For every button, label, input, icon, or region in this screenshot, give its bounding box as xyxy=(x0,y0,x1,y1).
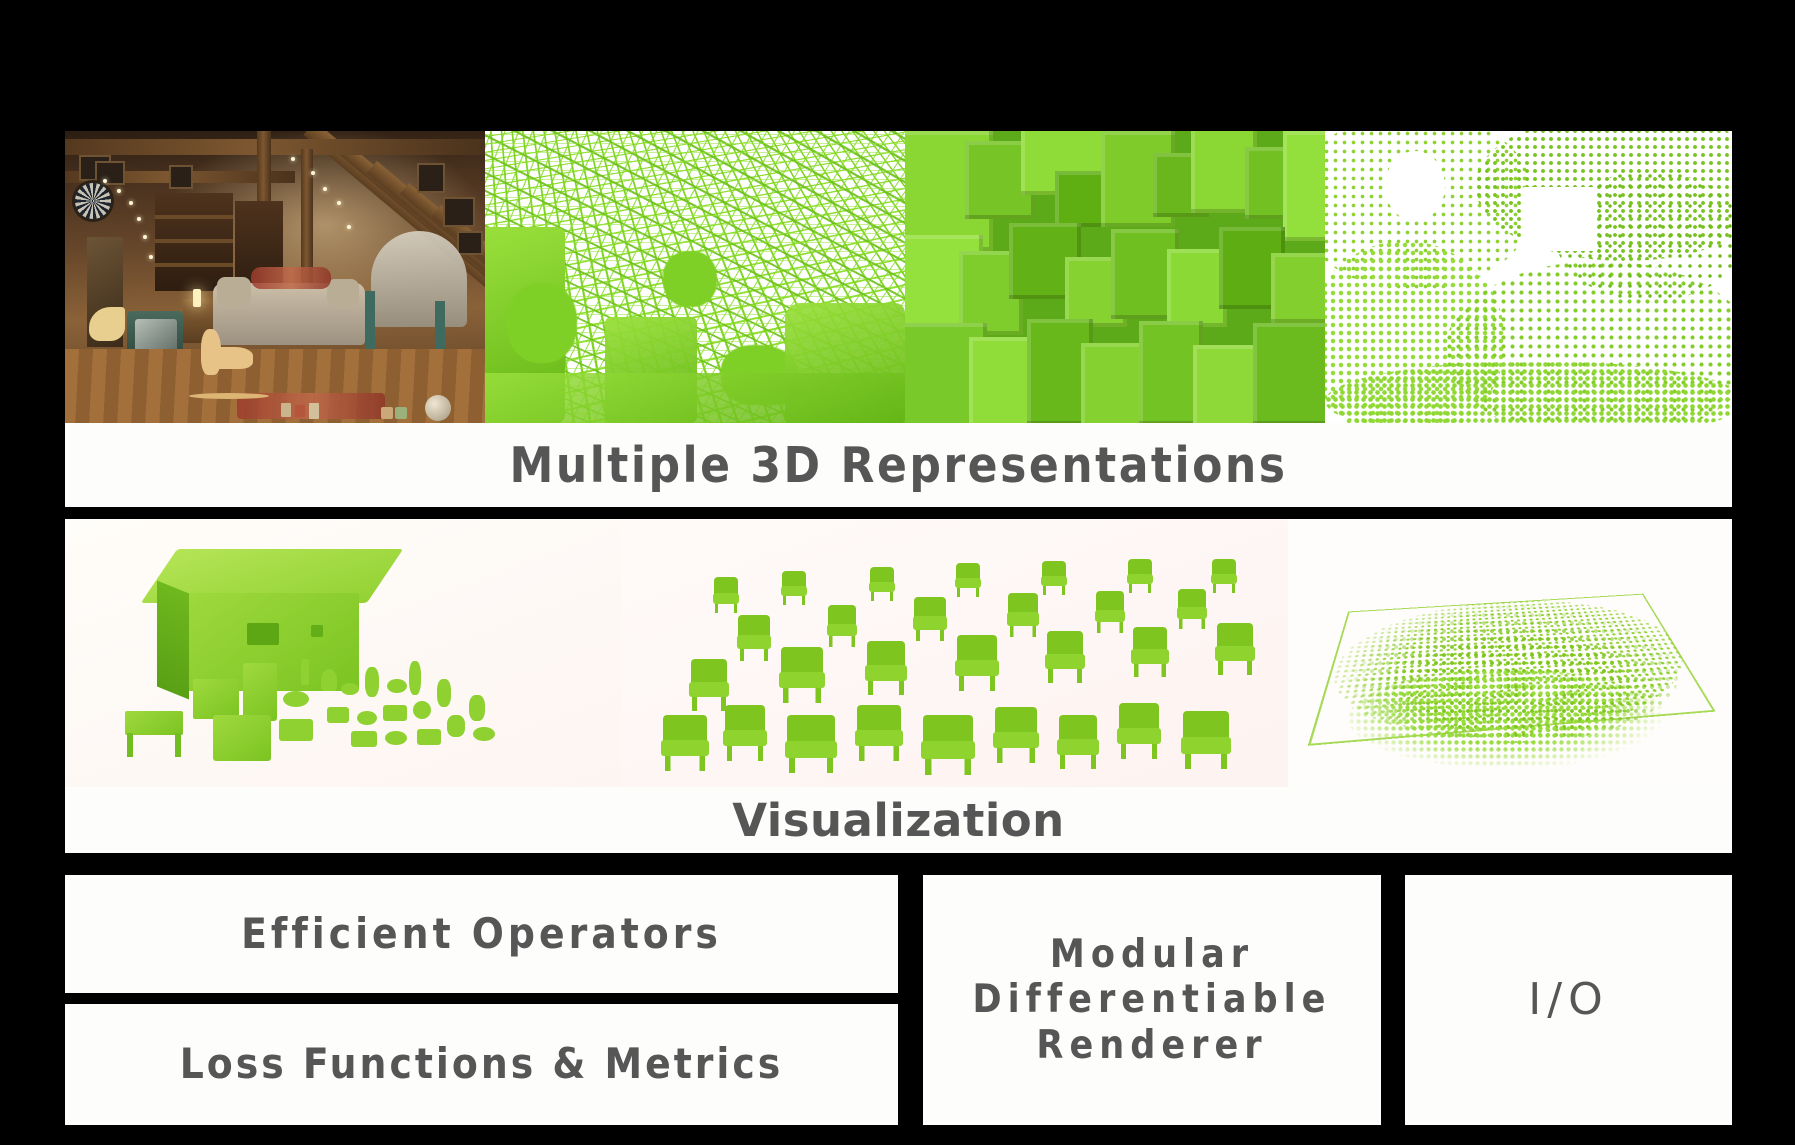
representations-caption-bar: Multiple 3D Representations xyxy=(65,423,1732,507)
exploded-scene-artwork xyxy=(65,519,621,787)
feature-loss-functions-metrics[interactable]: Loss Functions & Metrics xyxy=(65,1004,898,1125)
feature-io[interactable]: I/O xyxy=(1405,875,1732,1125)
features-row: Efficient Operators Loss Functions & Met… xyxy=(65,875,1732,1125)
point-cloud-artwork xyxy=(1325,131,1732,423)
panel-voxel-grid xyxy=(905,131,1325,423)
panel-exploded-scene xyxy=(65,519,621,787)
panel-wireframe-mesh xyxy=(485,131,905,423)
wireframe-mesh-artwork xyxy=(485,131,905,423)
visualization-caption-bar: Visualization xyxy=(65,787,1732,853)
feature-modular-differentiable-renderer[interactable]: Modular Differentiable Renderer xyxy=(923,875,1381,1125)
feature-modular-differentiable-renderer-label: Modular Differentiable Renderer xyxy=(973,932,1332,1068)
panel-photorealistic-attic xyxy=(65,131,485,423)
representations-caption: Multiple 3D Representations xyxy=(509,441,1287,490)
shape-gallery-artwork xyxy=(621,519,1288,787)
photoreal-attic-artwork xyxy=(65,131,485,423)
feature-io-label: I/O xyxy=(1528,974,1608,1025)
panel-point-cloud xyxy=(1325,131,1732,423)
poster-root: Multiple 3D Representations xyxy=(0,0,1795,1145)
visualization-caption: Visualization xyxy=(732,798,1064,843)
feature-efficient-operators-label: Efficient Operators xyxy=(241,910,722,959)
room-point-cloud-artwork xyxy=(1288,519,1732,787)
visualization-card: Visualization xyxy=(65,519,1732,853)
panel-room-point-cloud xyxy=(1288,519,1732,787)
panel-shape-gallery xyxy=(621,519,1288,787)
representations-card: Multiple 3D Representations xyxy=(65,131,1732,507)
voxel-grid-artwork xyxy=(905,131,1325,423)
feature-loss-functions-metrics-label: Loss Functions & Metrics xyxy=(180,1040,784,1089)
feature-efficient-operators[interactable]: Efficient Operators xyxy=(65,875,898,993)
